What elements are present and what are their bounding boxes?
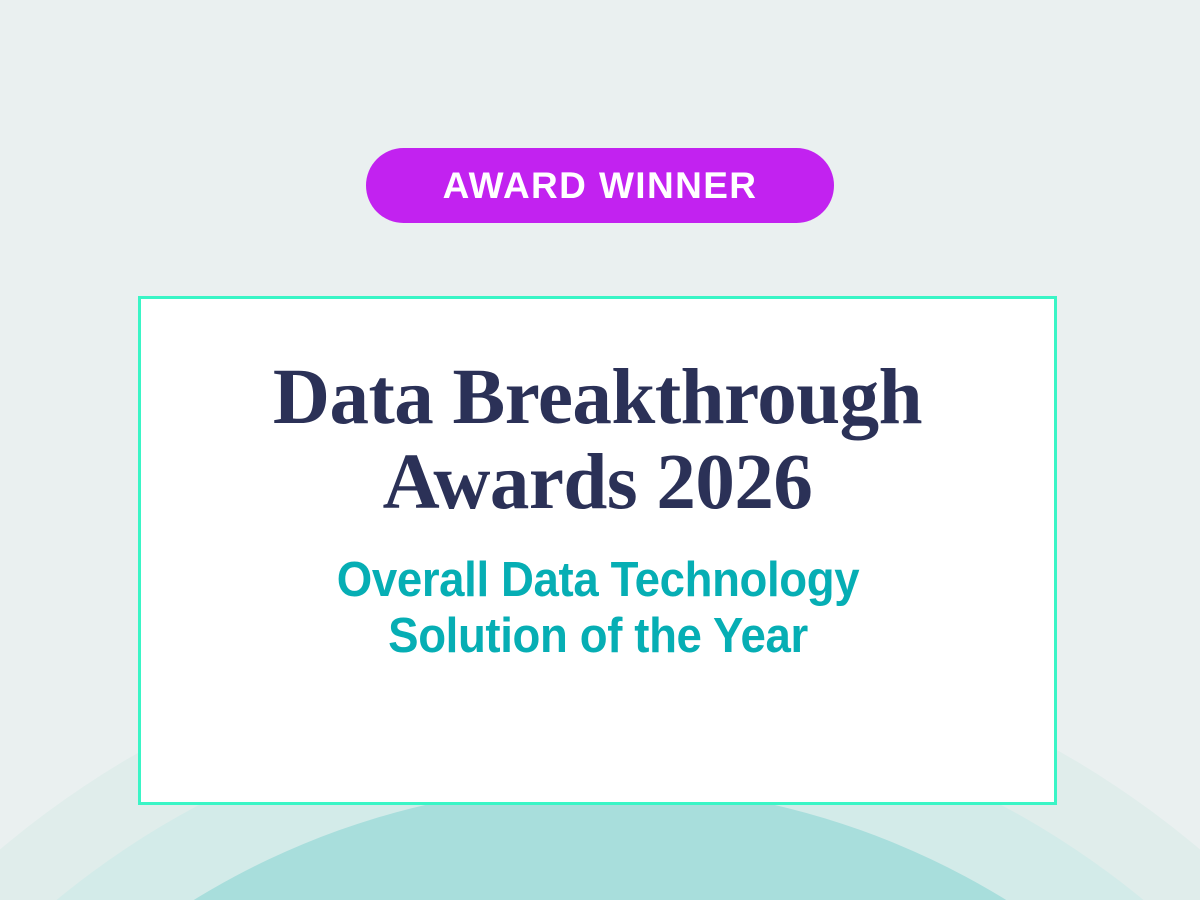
award-title-line-2: Awards 2026 — [383, 439, 813, 526]
award-category: Overall Data Technology Solution of the … — [244, 552, 951, 666]
award-winner-badge: AWARD WINNER — [366, 148, 834, 223]
award-title-line-1: Data Breakthrough — [273, 354, 922, 441]
award-title: Data Breakthrough Awards 2026 — [198, 355, 998, 526]
award-winner-badge-label: AWARD WINNER — [443, 167, 758, 204]
award-card: Data Breakthrough Awards 2026 Overall Da… — [138, 296, 1057, 805]
award-category-line-2: Solution of the Year — [388, 609, 808, 663]
award-category-line-1: Overall Data Technology — [336, 553, 858, 607]
award-card-page: AWARD WINNER Data Breakthrough Awards 20… — [0, 0, 1200, 900]
